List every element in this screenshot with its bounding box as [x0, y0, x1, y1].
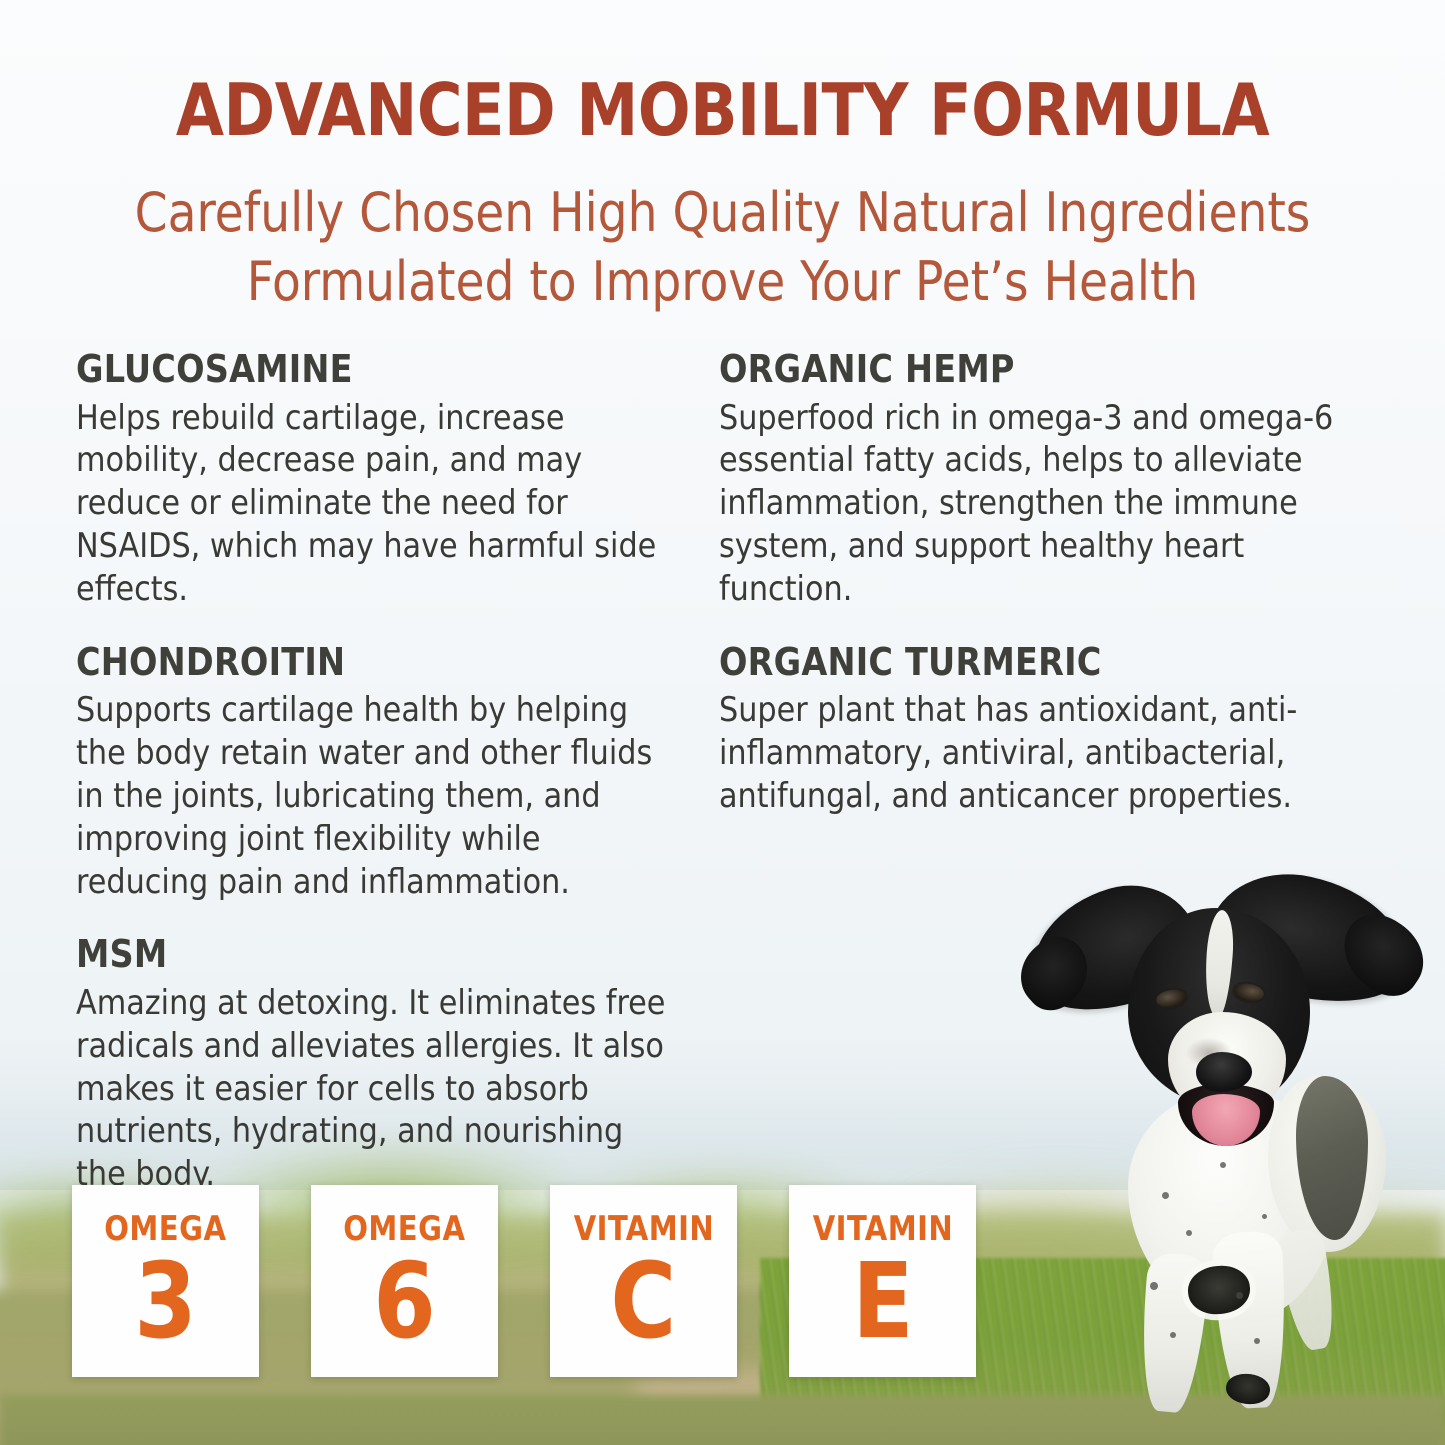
dog-ticking-spot: [1186, 1230, 1192, 1236]
dog-ticking-spot: [1170, 1332, 1176, 1338]
badge-omega-6: OMEGA 6: [311, 1185, 498, 1377]
page-subtitle: Carefully Chosen High Quality Natural In…: [22, 178, 1424, 316]
ingredient-description: Amazing at detoxing. It eliminates free …: [76, 982, 679, 1196]
ingredient-section-glucosamine: GLUCOSAMINE Helps rebuild cartilage, inc…: [76, 348, 685, 611]
subtitle-line-1: Carefully Chosen High Quality Natural In…: [22, 178, 1424, 247]
ingredient-section-msm: MSM Amazing at detoxing. It eliminates f…: [76, 933, 685, 1196]
ingredient-section-organic-hemp: ORGANIC HEMP Superfood rich in omega-3 a…: [719, 348, 1365, 611]
ingredient-section-organic-turmeric: ORGANIC TURMERIC Super plant that has an…: [719, 641, 1365, 818]
ingredient-columns: GLUCOSAMINE Helps rebuild cartilage, inc…: [0, 348, 1445, 1196]
badge-value: 3: [134, 1248, 197, 1354]
left-ingredient-column: GLUCOSAMINE Helps rebuild cartilage, inc…: [0, 348, 705, 1196]
page-title: ADVANCED MOBILITY FORMULA: [29, 74, 1416, 146]
ingredient-heading: ORGANIC HEMP: [719, 348, 1352, 391]
badge-value: 6: [373, 1248, 436, 1354]
ingredient-section-chondroitin: CHONDROITIN Supports cartilage health by…: [76, 641, 685, 904]
right-ingredient-column: ORGANIC HEMP Superfood rich in omega-3 a…: [705, 348, 1405, 1196]
badge-value: E: [852, 1248, 913, 1354]
ingredient-description: Super plant that has antioxidant, anti-i…: [719, 689, 1359, 817]
infographic-page: ADVANCED MOBILITY FORMULA Carefully Chos…: [0, 0, 1445, 1445]
ingredient-description: Superfood rich in omega-3 and omega-6 es…: [719, 397, 1359, 611]
ingredient-heading: MSM: [76, 933, 673, 976]
ingredient-heading: GLUCOSAMINE: [76, 348, 673, 391]
badge-vitamin-e: VITAMIN E: [789, 1185, 976, 1377]
subtitle-line-2: Formulated to Improve Your Pet’s Health: [22, 247, 1424, 316]
ingredient-description: Helps rebuild cartilage, increase mobili…: [76, 397, 679, 611]
ingredient-description: Supports cartilage health by helping the…: [76, 689, 679, 903]
dog-ticking-spot: [1236, 1292, 1243, 1299]
badge-vitamin-c: VITAMIN C: [550, 1185, 737, 1377]
dog-ticking-spot: [1254, 1338, 1260, 1344]
ingredient-heading: CHONDROITIN: [76, 641, 673, 684]
dog-ticking-spot: [1262, 1214, 1267, 1219]
badge-value: C: [611, 1248, 677, 1354]
ingredient-heading: ORGANIC TURMERIC: [719, 641, 1352, 684]
nutrient-badge-row: OMEGA 3 OMEGA 6 VITAMIN C VITAMIN E: [72, 1185, 976, 1377]
dog-ticking-spot: [1150, 1282, 1158, 1290]
badge-omega-3: OMEGA 3: [72, 1185, 259, 1377]
